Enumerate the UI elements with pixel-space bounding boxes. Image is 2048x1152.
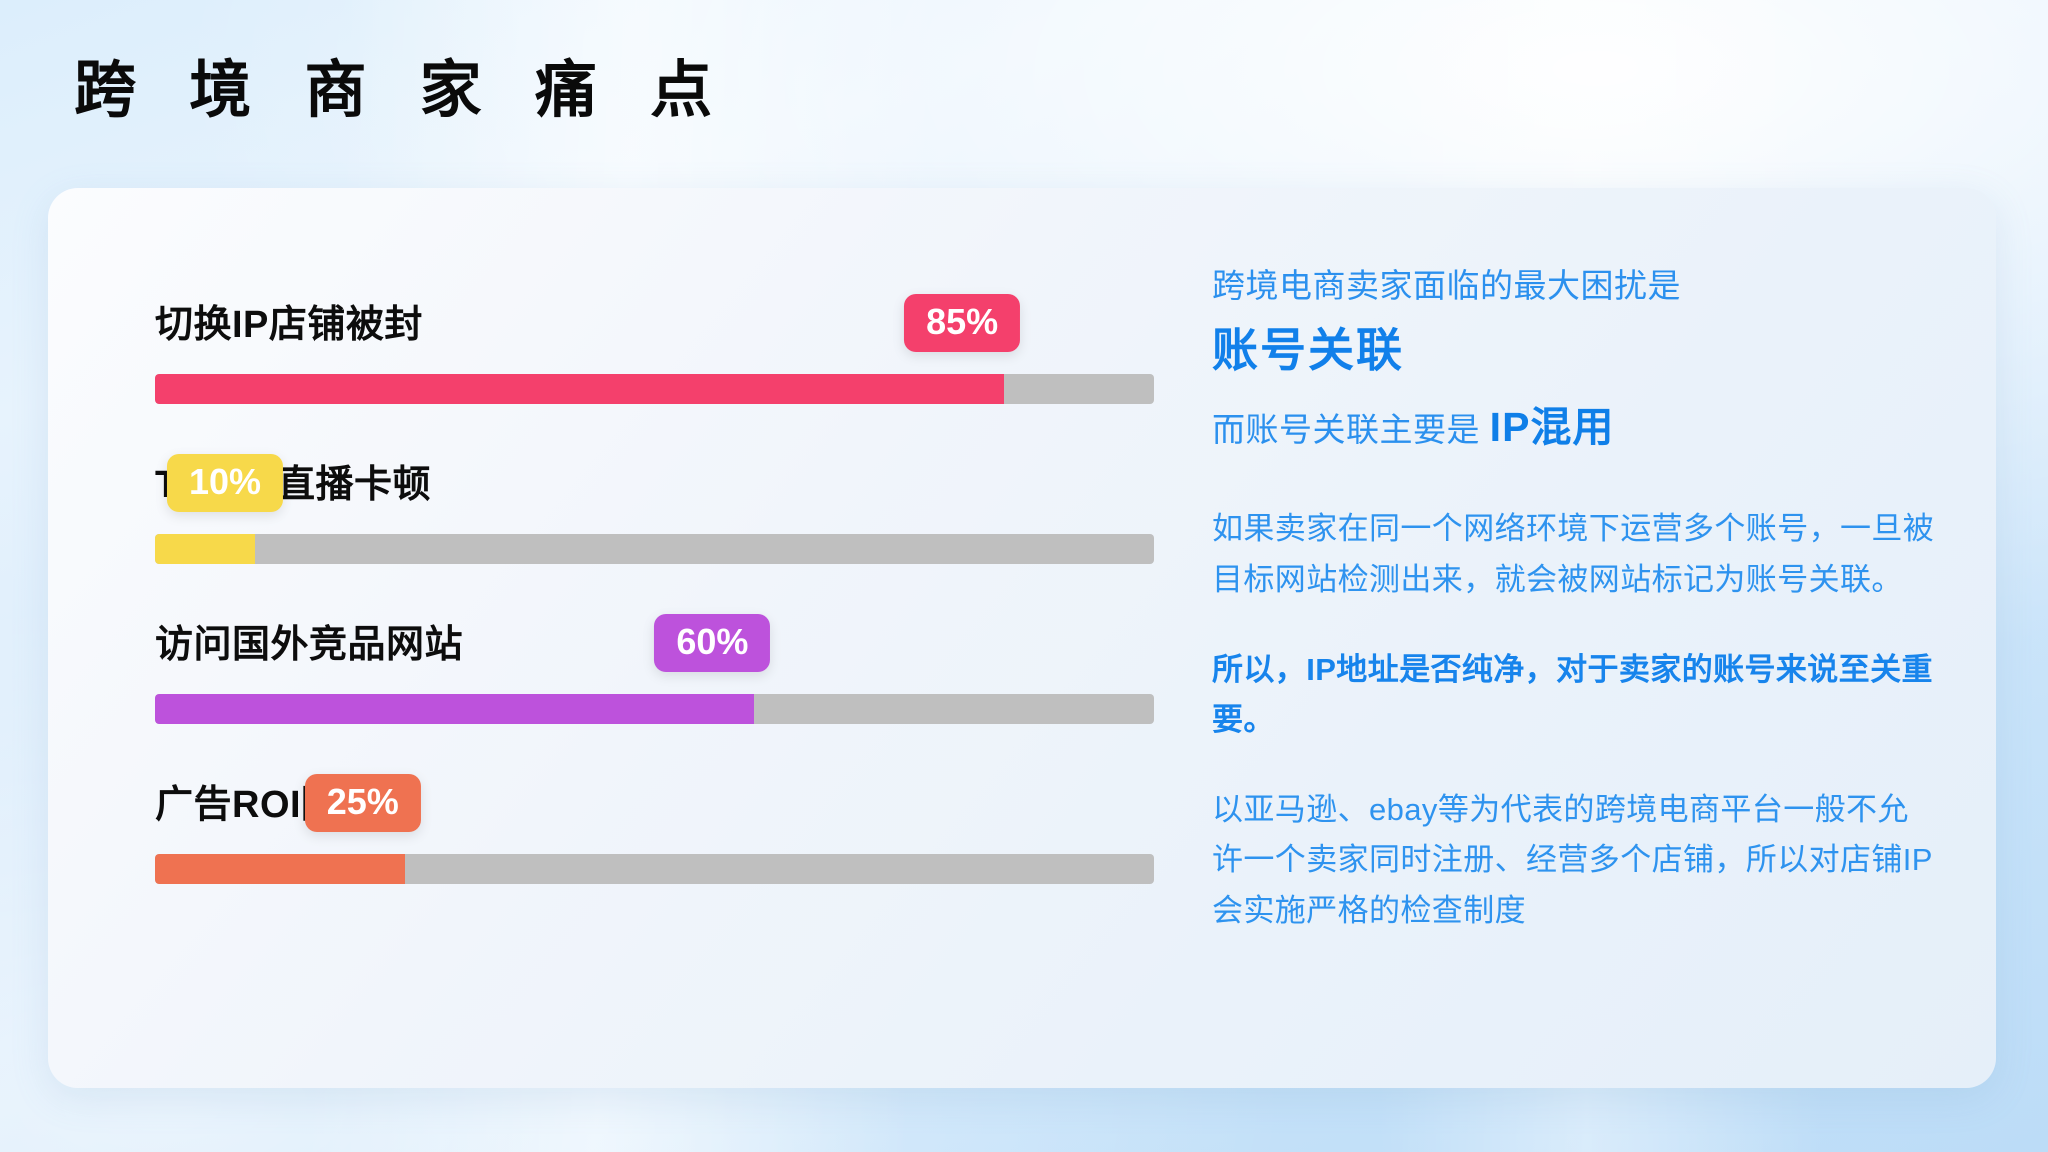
bar-track	[155, 534, 1154, 564]
bar-track	[155, 694, 1154, 724]
bar-value-badge: 85%	[904, 294, 1020, 352]
bar-row: 访问国外竞品网站 60%	[107, 594, 1154, 754]
lead-mix-line: 而账号关联主要是 IP混用	[1212, 397, 1936, 459]
bar-fill	[155, 534, 255, 564]
bar-header: TikTok直播卡顿 10%	[107, 434, 1154, 512]
pain-point-bar-chart: 切换IP店铺被封 85% TikTok直播卡顿 10% 访问国外竞品网站 60%	[48, 188, 1212, 1088]
lead-mix-keyword: IP混用	[1490, 404, 1615, 450]
bar-header: 广告ROI降低 25%	[107, 754, 1154, 832]
content-card: 切换IP店铺被封 85% TikTok直播卡顿 10% 访问国外竞品网站 60%	[48, 188, 1996, 1088]
paragraph-three: 以亚马逊、ebay等为代表的跨境电商平台一般不允许一个卖家同时注册、经营多个店铺…	[1212, 785, 1936, 936]
spacer	[1212, 458, 1936, 504]
bar-fill	[155, 854, 405, 884]
bar-header: 切换IP店铺被封 85%	[107, 274, 1154, 352]
page-title: 跨 境 商 家 痛 点	[74, 58, 730, 123]
bar-label: 访问国外竞品网站	[155, 613, 463, 668]
bar-row: 广告ROI降低 25%	[107, 754, 1154, 914]
bar-row: 切换IP店铺被封 85%	[107, 274, 1154, 434]
bar-value-badge: 10%	[167, 454, 283, 512]
bar-label: 切换IP店铺被封	[155, 293, 423, 348]
bar-track	[155, 854, 1154, 884]
lead-line: 跨境电商卖家面临的最大困扰是	[1212, 262, 1936, 310]
bar-value-badge: 60%	[654, 614, 770, 672]
bar-fill	[155, 694, 754, 724]
spacer	[1212, 745, 1936, 785]
spacer	[1212, 605, 1936, 645]
bar-track	[155, 374, 1154, 404]
bar-value-badge: 25%	[305, 774, 421, 832]
bar-row: TikTok直播卡顿 10%	[107, 434, 1154, 594]
paragraph-two: 所以，IP地址是否纯净，对于卖家的账号来说至关重要。	[1212, 645, 1936, 745]
bar-header: 访问国外竞品网站 60%	[107, 594, 1154, 672]
paragraph-one: 如果卖家在同一个网络环境下运营多个账号，一旦被目标网站检测出来，就会被网站标记为…	[1212, 504, 1936, 604]
explanation-panel: 跨境电商卖家面临的最大困扰是 账号关联 而账号关联主要是 IP混用 如果卖家在同…	[1212, 188, 1996, 1088]
lead-keyword: 账号关联	[1212, 316, 1936, 385]
bar-fill	[155, 374, 1004, 404]
lead-mix-prefix: 而账号关联主要是	[1212, 411, 1490, 448]
